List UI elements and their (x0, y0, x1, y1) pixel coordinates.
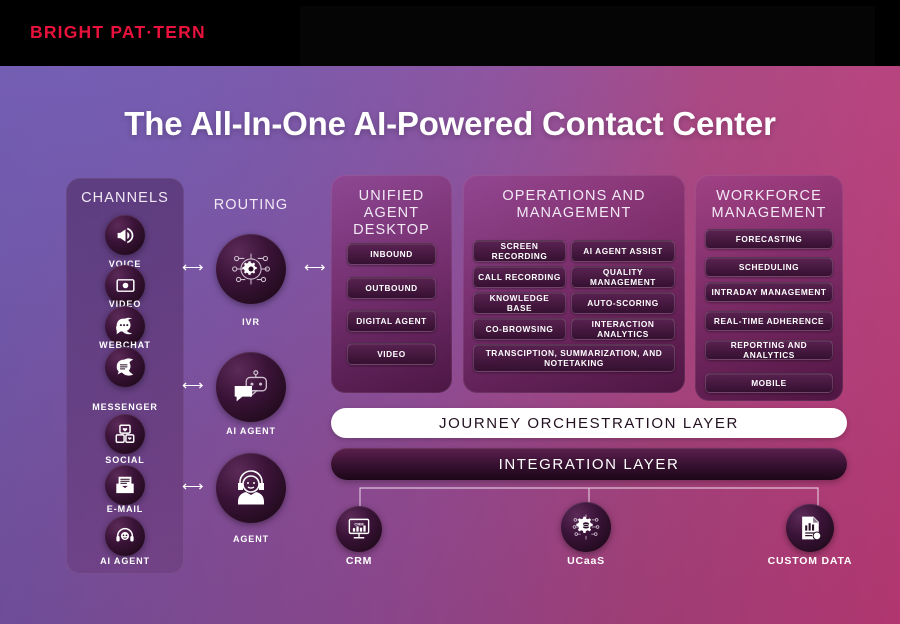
ops-item-knowledge-base[interactable]: KNOWLEDGE BASE (473, 292, 566, 314)
channel-icon-messenger[interactable] (105, 347, 145, 387)
wfm-item-intraday-management[interactable]: INTRADAY MANAGEMENT (705, 282, 833, 302)
integration-label-crm: CRM (294, 555, 424, 567)
top-bar: BRIGHT PAT·TERN (0, 0, 900, 66)
uad-item-digital-agent[interactable]: DIGITAL AGENT (347, 310, 436, 332)
ops-item-interaction-analytics[interactable]: INTERACTION ANALYTICS (571, 318, 675, 340)
agent-person-icon (227, 464, 275, 512)
routing-label-ai-agent: AI AGENT (192, 426, 310, 436)
infographic-slide: BRIGHT PAT·TERN The All-In-One AI-Powere… (0, 0, 900, 624)
channel-label-email: E-MAIL (66, 504, 184, 514)
ops-item-screen-recording[interactable]: SCREEN RECORDING (473, 240, 566, 262)
uad-item-video[interactable]: VIDEO (347, 343, 436, 365)
routing-icon-ai-agent[interactable] (216, 352, 286, 422)
uad-item-outbound[interactable]: OUTBOUND (347, 277, 436, 299)
arrow-channels-to-ivr: ⟷ (182, 260, 204, 275)
integration-label-custom-data: CUSTOM DATA (745, 555, 875, 567)
channels-heading: CHANNELS (66, 190, 184, 207)
integration-layer[interactable]: INTEGRATION LAYER (331, 448, 847, 480)
routing-heading: ROUTING (192, 197, 310, 214)
channel-label-messenger: MESSENGER (66, 402, 184, 412)
video-icon (115, 275, 136, 296)
arrow-channels-to-ai-agent: ⟷ (182, 378, 204, 393)
ucaas-network-icon (570, 511, 602, 543)
ops-item-quality-management[interactable]: QUALITY MANAGEMENT (571, 266, 675, 288)
social-hearts-icon (114, 423, 136, 445)
channel-icon-voice[interactable] (105, 215, 145, 255)
journey-orchestration-layer[interactable]: JOURNEY ORCHESTRATION LAYER (331, 408, 847, 438)
routing-label-ivr: IVR (192, 317, 310, 327)
wfm-item-mobile[interactable]: MOBILE (705, 373, 833, 393)
wfm-item-scheduling[interactable]: SCHEDULING (705, 257, 833, 277)
chat-bubble-icon (114, 315, 136, 337)
wfm-item-reporting-and-analytics[interactable]: REPORTING AND ANALYTICS (705, 340, 833, 360)
svg-text:CRM: CRM (354, 522, 364, 527)
channel-icon-social[interactable] (105, 414, 145, 454)
ops-item-co-browsing[interactable]: CO-BROWSING (473, 318, 566, 340)
channel-icon-ai-agent[interactable] (105, 516, 145, 556)
uad-item-inbound[interactable]: INBOUND (347, 243, 436, 265)
arrow-ivr-to-desktop: ⟷ (304, 260, 326, 275)
page-title: The All-In-One AI-Powered Contact Center (0, 105, 900, 143)
arrow-channels-to-agent: ⟷ (182, 479, 204, 494)
unified-agent-desktop-heading: UNIFIED AGENT DESKTOP (333, 188, 450, 239)
workforce-heading: WORKFORCE MANAGEMENT (697, 188, 841, 222)
chat-bot-icon (228, 364, 274, 410)
routing-icon-ivr[interactable] (216, 234, 286, 304)
ops-item-call-recording[interactable]: CALL RECORDING (473, 266, 566, 288)
ops-item-auto-scoring[interactable]: AUTO-SCORING (571, 292, 675, 314)
headset-bot-icon (114, 525, 136, 547)
integration-icon-crm[interactable]: CRM (336, 506, 382, 552)
top-bar-inset-panel (300, 6, 875, 66)
ops-item-ai-agent-assist[interactable]: AI AGENT ASSIST (571, 240, 675, 262)
megaphone-icon (115, 225, 136, 246)
ops-item-transcription-summarization-notetaking[interactable]: TRANSCIPTION, SUMMARIZATION, AND NOTETAK… (473, 344, 675, 372)
gear-network-icon (228, 246, 274, 292)
envelope-icon (114, 474, 136, 496)
messenger-icon (114, 356, 136, 378)
routing-label-agent: AGENT (192, 534, 310, 544)
integration-icon-custom-data[interactable] (786, 504, 834, 552)
integration-icon-ucaas[interactable] (561, 502, 611, 552)
operations-heading: OPERATIONS AND MANAGEMENT (470, 188, 678, 222)
channel-icon-email[interactable] (105, 465, 145, 505)
wfm-item-forecasting[interactable]: FORECASTING (705, 229, 833, 249)
document-chart-icon (796, 514, 824, 542)
brand-logo: BRIGHT PAT·TERN (30, 22, 206, 43)
crm-monitor-icon: CRM (345, 515, 373, 543)
wfm-item-real-time-adherence[interactable]: REAL-TIME ADHERENCE (705, 311, 833, 331)
routing-icon-agent[interactable] (216, 453, 286, 523)
channel-label-social: SOCIAL (66, 455, 184, 465)
channel-label-ai-agent: AI AGENT (66, 556, 184, 566)
integration-label-ucaas: UCaaS (521, 555, 651, 567)
